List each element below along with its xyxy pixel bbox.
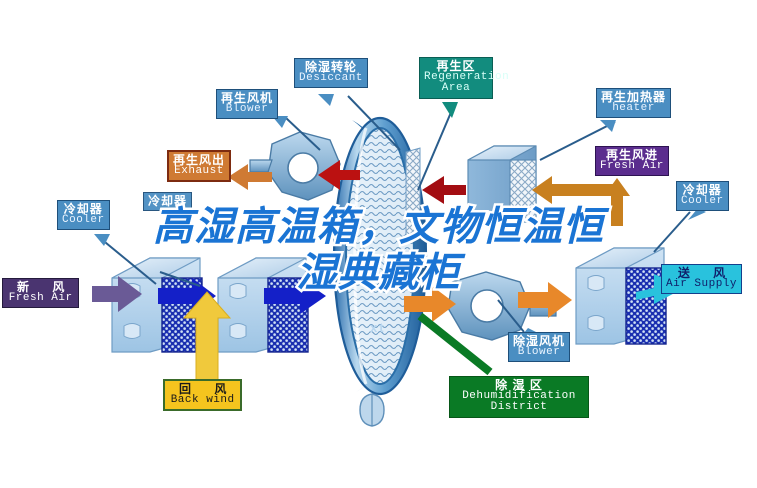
label-fresh-air-inlet-en: Fresh Air	[7, 293, 74, 304]
regen-rotor-arrow	[422, 176, 466, 204]
diagram-canvas: xt 除湿转轮 Desiccant 再生风机 Blower 再生区 Regene…	[0, 0, 757, 488]
label-regen-fresh-air: 再生风进 Fresh Air	[595, 146, 669, 176]
label-fresh-air-inlet: 新 风 Fresh Air	[2, 278, 79, 308]
regen-heater-unit	[468, 146, 536, 222]
label-dehumid-district-en: Dehumidification District	[454, 391, 584, 413]
label-regen-heater: 再生加热器 heater	[596, 88, 671, 118]
label-regeneration-area: 再生区 Regeneration Area	[419, 57, 493, 99]
label-desiccant-rotor: 除湿转轮 Desiccant	[294, 58, 368, 88]
label-dehumid-blower: 除湿风机 Blower	[508, 332, 570, 362]
label-exhaust: 再生风出 Exhaust	[167, 150, 231, 182]
regen-area-strip	[406, 148, 420, 236]
regen-inlet-arrow	[532, 176, 618, 204]
label-regen-blower: 再生风机 Blower	[216, 89, 278, 119]
label-regen-heater-en: heater	[601, 103, 666, 114]
label-air-supply-en: Air Supply	[666, 279, 737, 290]
regen-blower-graphic	[250, 132, 340, 200]
dehumidifier-schematic-artwork	[0, 0, 757, 488]
label-desiccant-rotor-en: Desiccant	[299, 73, 363, 84]
label-air-supply: 送 风 Air Supply	[661, 264, 742, 294]
label-cooler-mid-cn: 冷却器	[148, 195, 187, 207]
label-dehumidification-district: 除 湿 区 Dehumidification District	[449, 376, 589, 418]
label-regeneration-area-en: Regeneration Area	[424, 72, 488, 94]
watermark-text: xt	[370, 320, 386, 335]
label-regen-fresh-air-en: Fresh Air	[600, 161, 664, 172]
label-cooler-mid: 冷却器	[143, 192, 192, 211]
label-back-wind-en: Back wind	[169, 395, 236, 406]
label-back-wind: 回 风 Back wind	[163, 379, 242, 411]
label-cooler-left: 冷却器 Cooler	[57, 200, 110, 230]
label-regen-blower-en: Blower	[221, 104, 273, 115]
label-cooler-left-en: Cooler	[62, 215, 105, 226]
label-exhaust-en: Exhaust	[173, 166, 225, 177]
label-cooler-right-en: Cooler	[681, 196, 724, 207]
cooler-unit-2	[218, 258, 308, 352]
label-dehumid-blower-en: Blower	[513, 347, 565, 358]
label-cooler-right: 冷却器 Cooler	[676, 181, 729, 211]
